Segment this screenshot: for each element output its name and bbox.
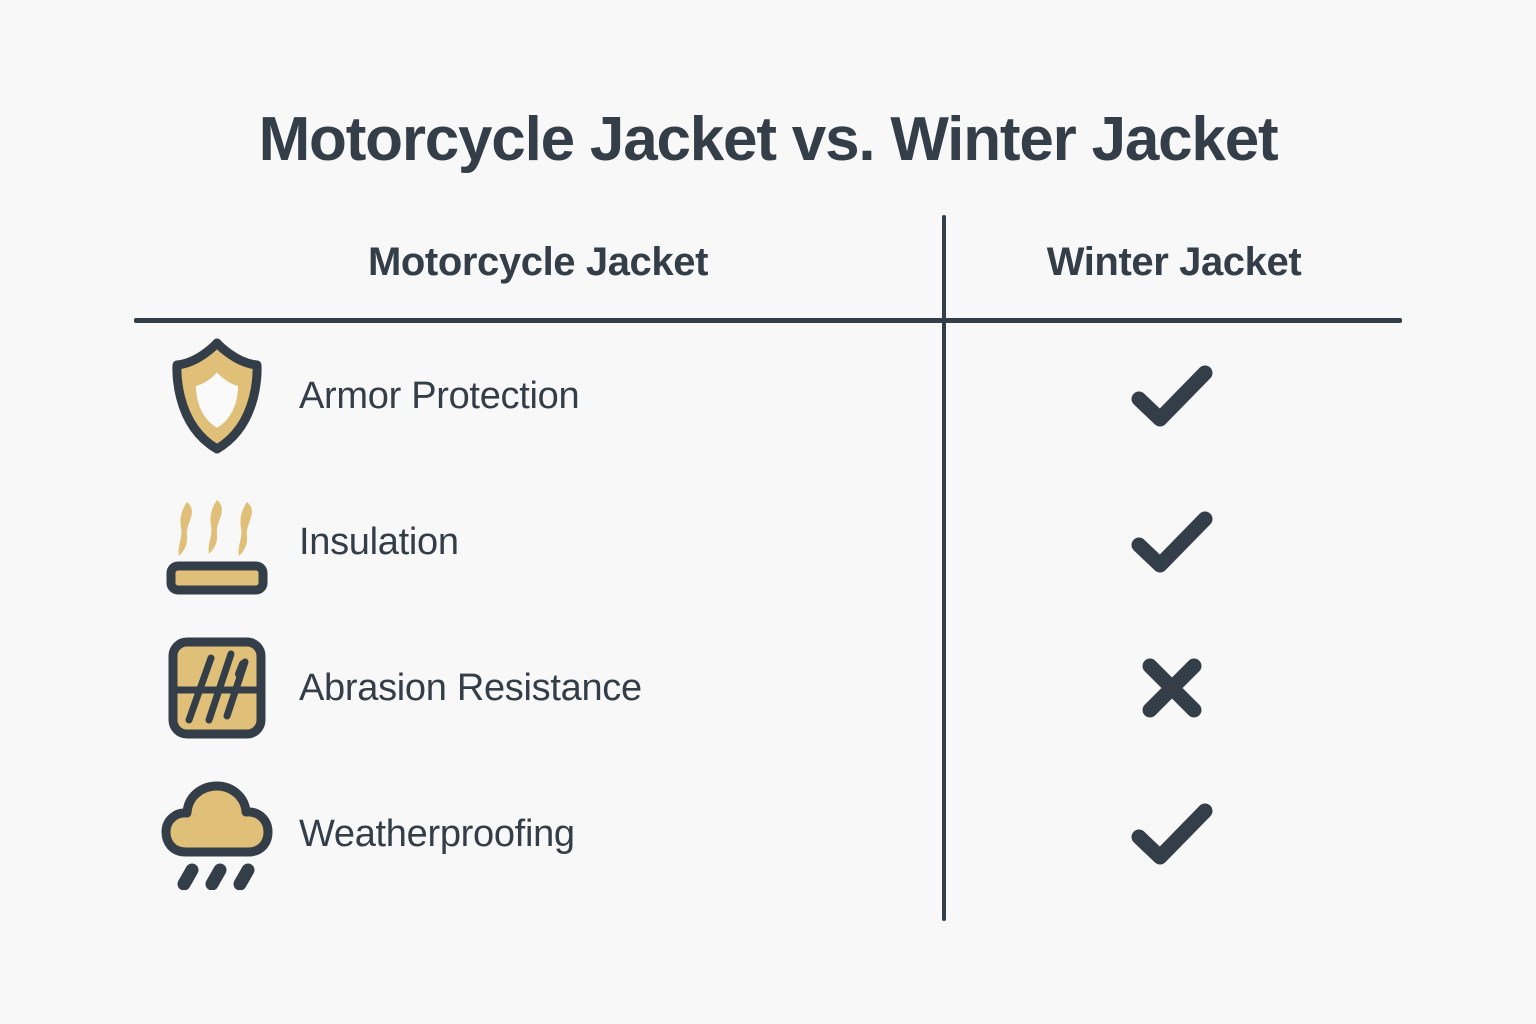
shield-icon <box>134 337 299 455</box>
row-feature-cell: Armor Protection <box>134 337 942 455</box>
row-winter-jacket-cell <box>942 650 1402 726</box>
column-header-winter-jacket: Winter Jacket <box>946 240 1402 285</box>
check-icon <box>1129 361 1215 431</box>
row-winter-jacket-cell <box>942 361 1402 431</box>
check-icon <box>1129 799 1215 869</box>
table-row: Insulation <box>134 469 1402 615</box>
row-feature-label: Abrasion Resistance <box>299 667 642 710</box>
table-row: Abrasion Resistance <box>134 615 1402 761</box>
table-row: Weatherproofing <box>134 761 1402 907</box>
comparison-rows: Armor Protection <box>134 323 1402 907</box>
heat-waves-icon <box>134 486 299 598</box>
row-winter-jacket-cell <box>942 507 1402 577</box>
row-feature-cell: Abrasion Resistance <box>134 636 942 740</box>
row-feature-label: Weatherproofing <box>299 813 575 856</box>
page-title: Motorcycle Jacket vs. Winter Jacket <box>0 104 1536 175</box>
row-feature-label: Armor Protection <box>299 375 579 418</box>
row-feature-cell: Weatherproofing <box>134 778 942 890</box>
column-header-motorcycle-jacket: Motorcycle Jacket <box>134 240 942 285</box>
abrasion-patch-icon <box>134 636 299 740</box>
check-icon <box>1129 507 1215 577</box>
cross-icon <box>1134 650 1210 726</box>
comparison-table: Motorcycle Jacket Winter Jacket Armor Pr… <box>134 215 1402 921</box>
rain-cloud-icon <box>134 778 299 890</box>
comparison-table-page: Motorcycle Jacket vs. Winter Jacket Moto… <box>0 0 1536 1024</box>
table-row: Armor Protection <box>134 323 1402 469</box>
row-winter-jacket-cell <box>942 799 1402 869</box>
row-feature-cell: Insulation <box>134 486 942 598</box>
row-feature-label: Insulation <box>299 521 459 564</box>
